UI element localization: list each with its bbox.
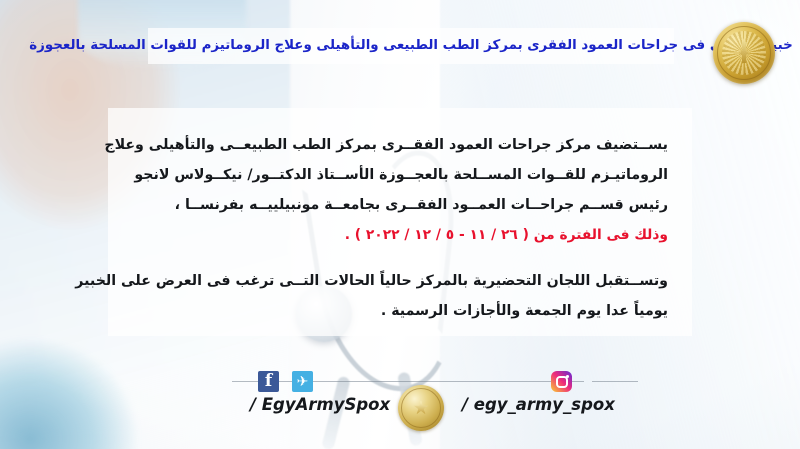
footer-divider-left	[232, 381, 584, 382]
armed-forces-emblem-icon	[713, 22, 775, 84]
event-date-range: وذلك فى الفترة من ( ٢٦ / ١١ - ٥ / ١٢ / ٢…	[132, 220, 668, 250]
twitter-icon[interactable]: ✈	[292, 371, 313, 392]
paragraph-one-line-1: يســتضيف مركز جراحات العمود الفقــرى بمر…	[132, 130, 668, 160]
headline-banner: خبير فرنسى فى جراحات العمود الفقرى بمركز…	[148, 28, 674, 64]
paragraph-two: وتســتقبل اللجان التحضيرية بالمركز حاليا…	[132, 266, 668, 326]
paragraph-one-line-3: رئيس قســم جراحــات العمــود الفقــرى بج…	[132, 190, 668, 220]
instagram-handle[interactable]: / egy_army_spox	[462, 395, 615, 414]
announcement-card: يســتضيف مركز جراحات العمود الفقــرى بمر…	[108, 108, 692, 336]
poster-root: خبير فرنسى فى جراحات العمود الفقرى بمركز…	[0, 0, 800, 449]
paragraph-one-line-2: الروماتيـزم للقــوات المســلحة بالعجــوز…	[132, 160, 668, 190]
paragraph-two-line-2: يومياً عدا يوم الجمعة والأجازات الرسمية …	[132, 296, 668, 326]
facebook-icon[interactable]: f	[258, 371, 279, 392]
footer-divider-right	[592, 381, 638, 382]
emblem-rim	[717, 26, 771, 80]
paragraph-two-line-1: وتســتقبل اللجان التحضيرية بالمركز حاليا…	[132, 266, 668, 296]
headline-text: خبير فرنسى فى جراحات العمود الفقرى بمركز…	[29, 38, 792, 55]
instagram-dot	[566, 375, 569, 378]
instagram-icon[interactable]	[551, 371, 572, 392]
twitter-glyph: ✈	[292, 371, 313, 393]
footer-seal-icon	[398, 385, 444, 431]
social-footer: f ✈ / EgyArmySpox / egy_army_spox	[0, 363, 800, 449]
facebook-handle[interactable]: / EgyArmySpox	[250, 395, 390, 414]
facebook-glyph: f	[258, 371, 279, 392]
paragraph-one: يســتضيف مركز جراحات العمود الفقــرى بمر…	[132, 130, 668, 250]
